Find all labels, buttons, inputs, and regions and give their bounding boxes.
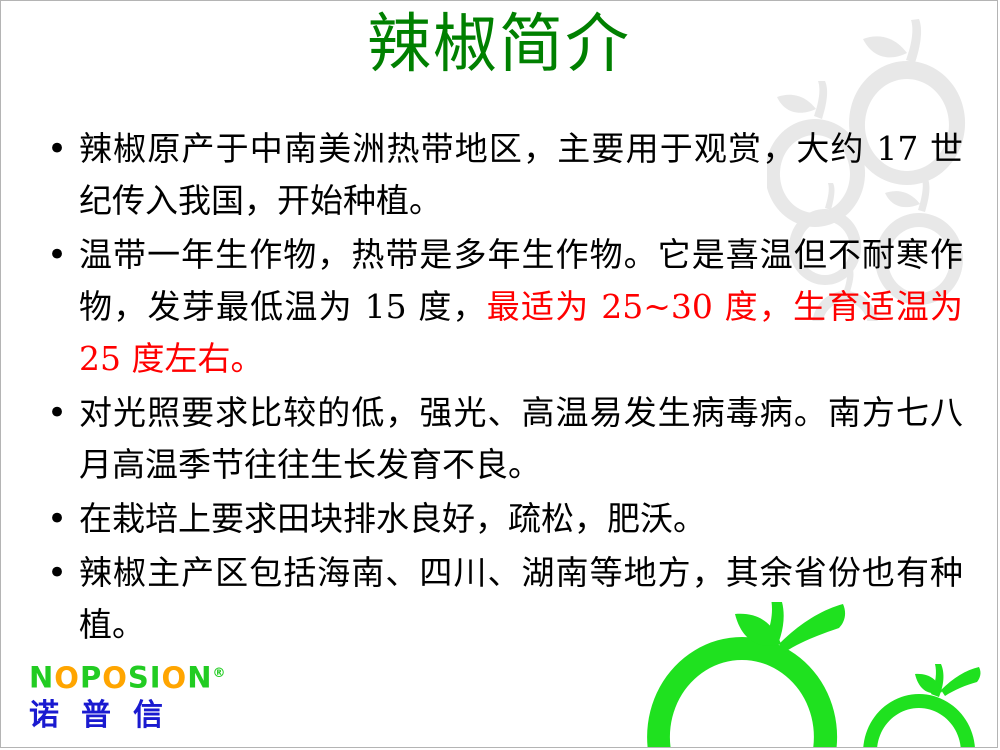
logo-letter-n1: N [29,661,54,695]
logo-letter-n2: N [187,661,212,695]
logo-letters-si: SI [128,661,162,695]
bullet-soil: • 在栽培上要求田块排水良好，疏松，肥沃。 [39,493,963,545]
bullet-light-segment-0: 对光照要求比较的低，强光、高温易发生病毒病。南方七八月高温季节往往生长发育不良。 [79,393,963,484]
bullet-marker: • [39,493,79,545]
bullet-origin-segment-0: 辣椒原产于中南美洲热带地区，主要用于观赏，大约 17 世纪传入我国，开始种植。 [79,129,963,220]
logo-wordmark: NOPOSION® [29,657,226,695]
bullet-soil-text: 在栽培上要求田块排水良好，疏松，肥沃。 [79,493,963,545]
bullet-temperature: • 温带一年生作物，热带是多年生作物。它是喜温但不耐寒作物，发芽最低温为 15 … [39,229,963,385]
bullet-marker: • [39,387,79,439]
logo-letter-p: P [80,661,102,695]
bullet-regions-segment-0: 辣椒主产区包括海南、四川、湖南等地方，其余省份也有种植。 [79,553,963,644]
bullet-marker: • [39,229,79,281]
bullet-light: • 对光照要求比较的低，强光、高温易发生病毒病。南方七八月高温季节往往生长发育不… [39,387,963,491]
bullet-marker: • [39,123,79,175]
slide-title: 辣椒简介 [1,9,997,83]
company-logo: NOPOSION® 诺普信 [29,657,226,735]
bullet-regions: • 辣椒主产区包括海南、四川、湖南等地方，其余省份也有种植。 [39,547,963,651]
bullet-origin: • 辣椒原产于中南美洲热带地区，主要用于观赏，大约 17 世纪传入我国，开始种植… [39,123,963,227]
bullet-soil-segment-0: 在栽培上要求田块排水良好，疏松，肥沃。 [79,499,706,538]
slide-canvas: 辣椒简介 • 辣椒原产于中南美洲热带地区，主要用于观赏，大约 17 世纪传入我国… [0,0,998,748]
bullet-regions-text: 辣椒主产区包括海南、四川、湖南等地方，其余省份也有种植。 [79,547,963,651]
bullet-marker: • [39,547,79,599]
bullet-temperature-text: 温带一年生作物，热带是多年生作物。它是喜温但不耐寒作物，发芽最低温为 15 度，… [79,229,963,385]
logo-chinese-name: 诺普信 [29,697,226,735]
logo-fruit-o-2: O [102,661,128,695]
bullet-origin-text: 辣椒原产于中南美洲热带地区，主要用于观赏，大约 17 世纪传入我国，开始种植。 [79,123,963,227]
logo-fruit-o-1: O [54,661,80,695]
bullet-list: • 辣椒原产于中南美洲热带地区，主要用于观赏，大约 17 世纪传入我国，开始种植… [39,123,963,653]
registered-trademark-icon: ® [212,666,226,681]
logo-fruit-o-3: O [162,661,188,695]
bullet-light-text: 对光照要求比较的低，强光、高温易发生病毒病。南方七八月高温季节往往生长发育不良。 [79,387,963,491]
